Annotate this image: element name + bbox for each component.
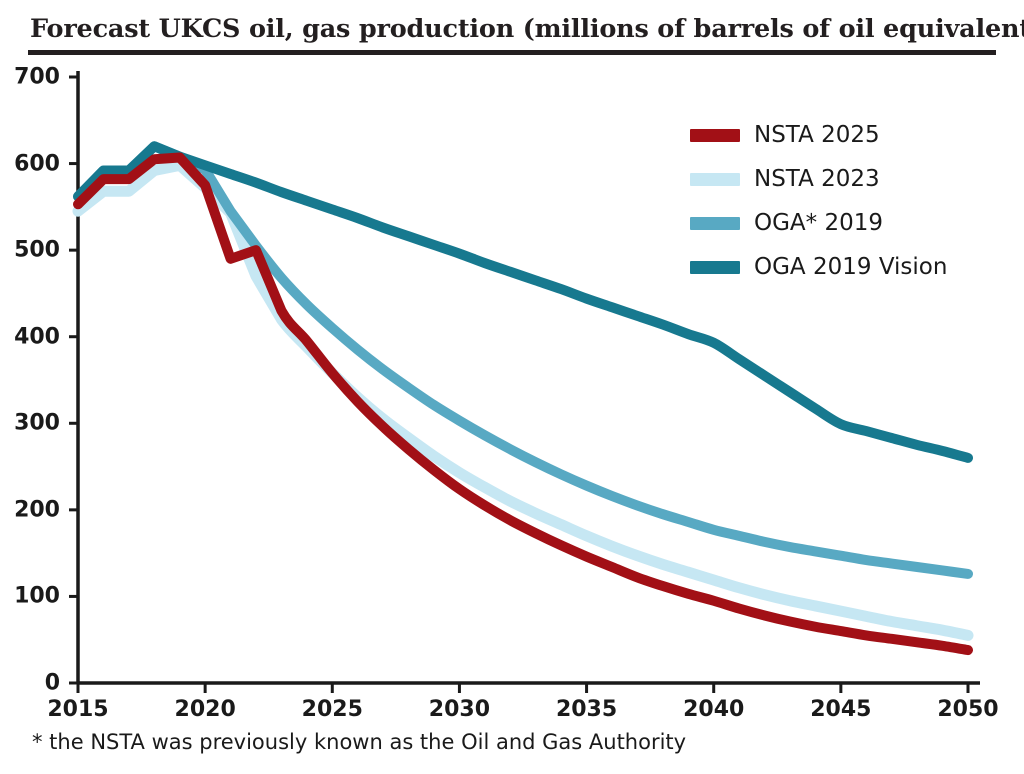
legend-item[interactable]: OGA 2019 Vision: [690, 245, 1010, 289]
legend-item[interactable]: NSTA 2025: [690, 113, 1010, 157]
x-axis-tick-label: 2025: [287, 697, 377, 722]
x-axis-tick-label: 2050: [923, 697, 1013, 722]
x-axis-tick-label: 2035: [542, 697, 632, 722]
x-axis-tick-label: 2020: [160, 697, 250, 722]
y-axis-tick-label: 100: [4, 584, 60, 609]
y-axis-tick-label: 0: [4, 671, 60, 696]
legend-item[interactable]: NSTA 2023: [690, 157, 1010, 201]
x-axis-tick-label: 2030: [414, 697, 504, 722]
legend-color-swatch: [690, 217, 740, 230]
legend-item-label: NSTA 2023: [754, 166, 880, 192]
x-axis-tick-label: 2040: [669, 697, 759, 722]
chart-legend: NSTA 2025NSTA 2023OGA* 2019OGA 2019 Visi…: [690, 113, 1010, 289]
legend-item[interactable]: OGA* 2019: [690, 201, 1010, 245]
y-axis-tick-label: 600: [4, 151, 60, 176]
legend-item-label: NSTA 2025: [754, 122, 880, 148]
y-axis-tick-label: 500: [4, 238, 60, 263]
legend-item-label: OGA* 2019: [754, 210, 883, 236]
legend-item-label: OGA 2019 Vision: [754, 254, 947, 280]
y-axis-tick-label: 700: [4, 65, 60, 90]
legend-color-swatch: [690, 261, 740, 274]
y-axis-tick-label: 200: [4, 497, 60, 522]
legend-color-swatch: [690, 129, 740, 142]
x-axis-tick-label: 2045: [796, 697, 886, 722]
y-axis-tick-label: 300: [4, 411, 60, 436]
y-axis-tick-label: 400: [4, 324, 60, 349]
legend-color-swatch: [690, 173, 740, 186]
chart-footnote: * the NSTA was previously known as the O…: [32, 730, 686, 754]
x-axis-tick-label: 2015: [33, 697, 123, 722]
